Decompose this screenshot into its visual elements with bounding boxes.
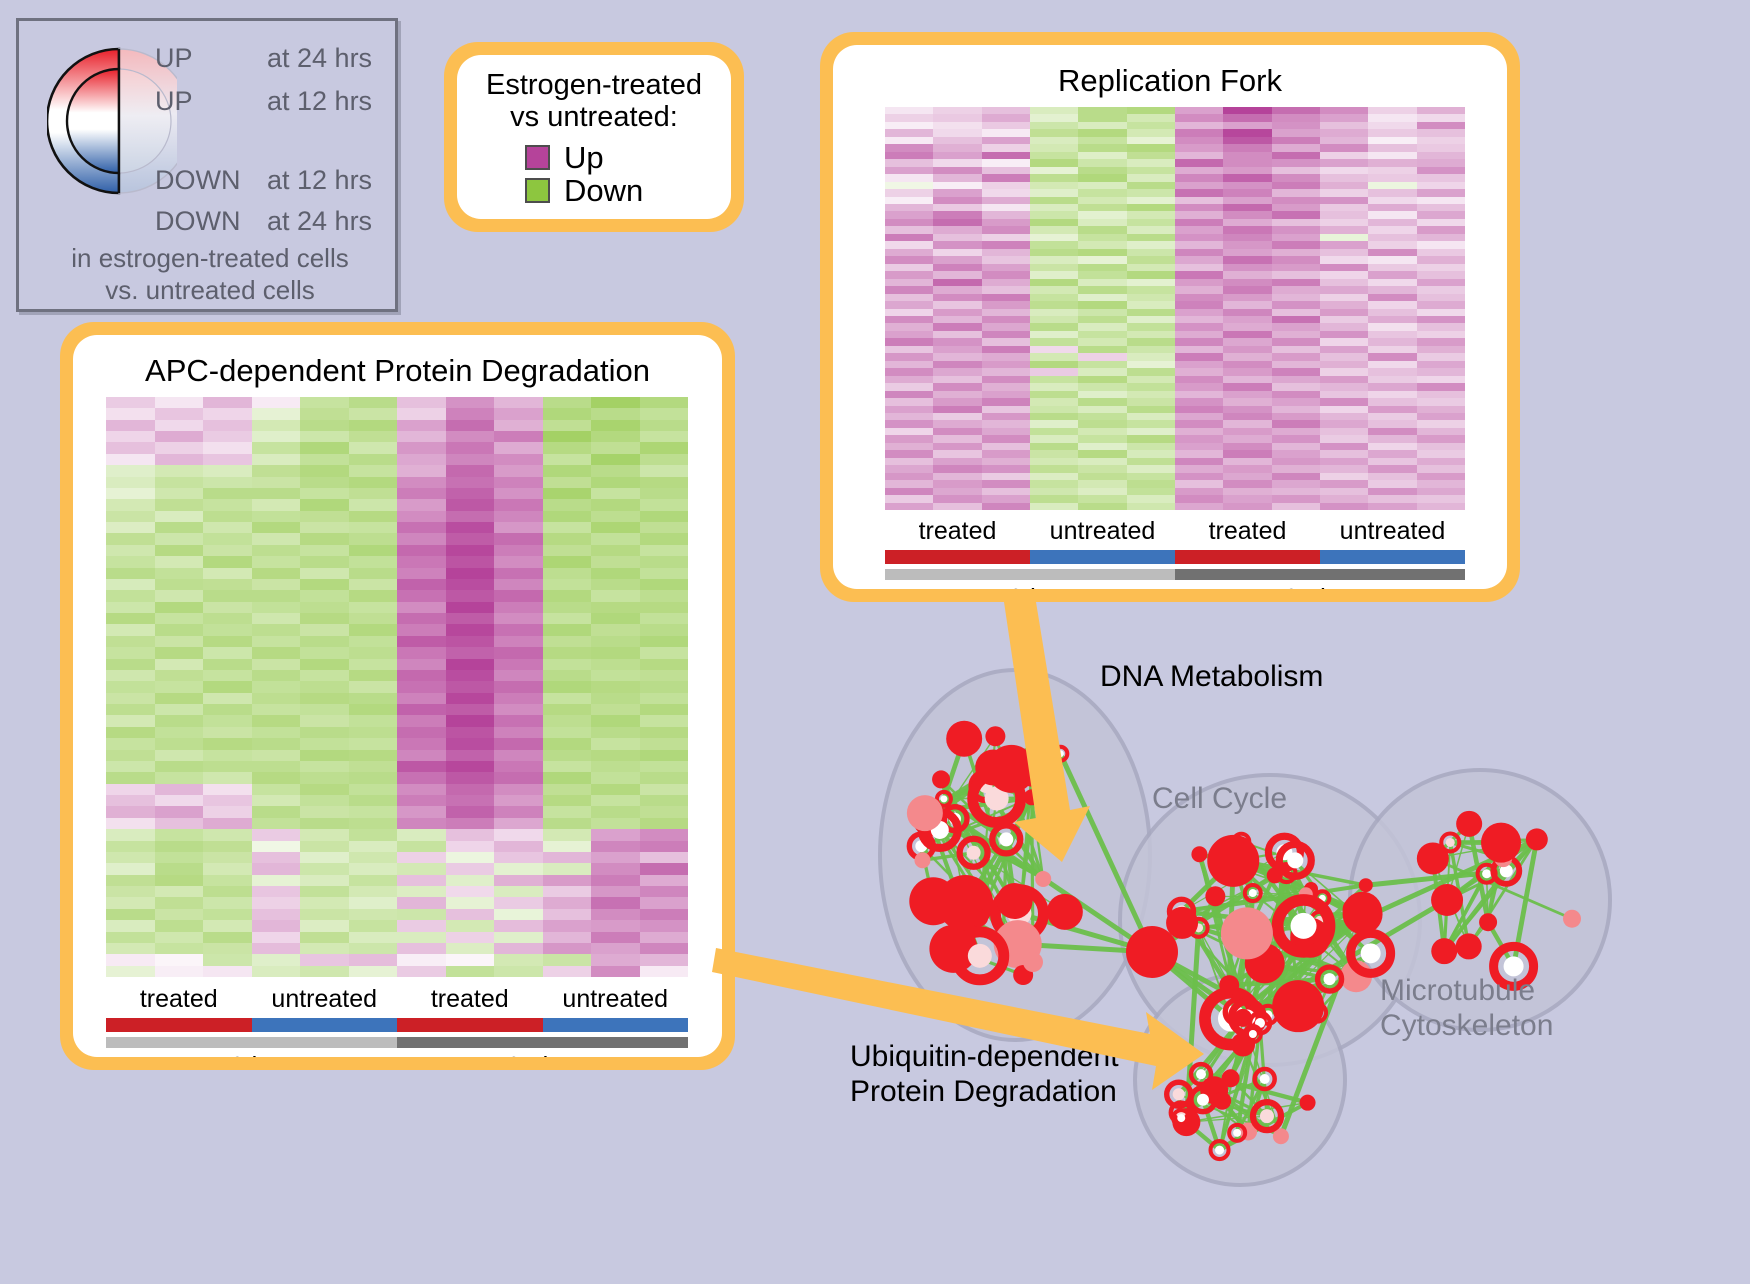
heatmap-cell	[982, 383, 1030, 390]
heatmap-cell	[1417, 234, 1465, 241]
heatmap-cell	[1127, 249, 1175, 256]
heatmap-cell	[349, 932, 398, 943]
cluster-label-microtubule-cytoskeleton: Microtubule Cytoskeleton	[1380, 974, 1553, 1043]
heatmap-cell	[1223, 249, 1271, 256]
heatmap-cell	[300, 784, 349, 795]
network-node	[1359, 878, 1373, 892]
heatmap-cell	[885, 107, 933, 114]
heatmap-cell	[1417, 174, 1465, 181]
heatmap-cell	[1417, 391, 1465, 398]
heatmap-cell	[397, 750, 446, 761]
heatmap-cell	[591, 761, 640, 772]
heatmap-cell	[1030, 211, 1078, 218]
heatmap-cell	[1223, 503, 1271, 510]
heatmap-cell	[106, 886, 155, 897]
heatmap-cell	[1320, 144, 1368, 151]
heatmap-cell	[543, 556, 592, 567]
heatmap-cell	[1030, 473, 1078, 480]
heatmap-cell	[300, 841, 349, 852]
heatmap-cell	[982, 279, 1030, 286]
heatmap-cell	[106, 818, 155, 829]
heatmap-cell	[252, 545, 301, 556]
network-node-core	[1215, 1146, 1224, 1155]
colorwheel-legend-box: UP at 24 hrs UP at 12 hrs DOWN at 12 hrs…	[16, 18, 398, 312]
heatmap-cell	[1272, 234, 1320, 241]
heatmap-cell	[885, 503, 933, 510]
heatmap-cell	[1223, 473, 1271, 480]
heatmap-cell	[885, 144, 933, 151]
heatmap-cell	[1175, 271, 1223, 278]
heatmap-cell	[106, 488, 155, 499]
heatmap-cell	[397, 806, 446, 817]
heatmap-cell	[1272, 473, 1320, 480]
heatmap-cell	[494, 522, 543, 533]
heatmap-cell	[203, 829, 252, 840]
heatmap-cell	[349, 590, 398, 601]
heatmap-cell	[1272, 211, 1320, 218]
heatmap-cell	[1127, 413, 1175, 420]
heatmap-cell	[494, 556, 543, 567]
condition-label-2: treated	[397, 985, 543, 1014]
heatmap-cell	[1127, 488, 1175, 495]
heatmap-cell	[982, 152, 1030, 159]
network-diagram: DNA Metabolism Cell Cycle Microtubule Cy…	[800, 600, 1750, 1279]
heatmap-cell	[1417, 204, 1465, 211]
heatmap-cell	[640, 841, 689, 852]
heatmap-cell	[982, 114, 1030, 121]
heatmap-cell	[1030, 503, 1078, 510]
heatmap-cell	[155, 875, 204, 886]
heatmap-cell	[446, 408, 495, 419]
heatmap-cell	[1175, 480, 1223, 487]
heatmap-cell	[1175, 413, 1223, 420]
heatmap-cell	[494, 841, 543, 852]
heatmap-cell	[106, 829, 155, 840]
heatmap-cell	[446, 613, 495, 624]
heatmap-cell	[1127, 420, 1175, 427]
heatmap-cell	[640, 499, 689, 510]
heatmap-cell	[1030, 361, 1078, 368]
heatmap-cell	[203, 659, 252, 670]
heatmap-cell	[982, 376, 1030, 383]
heatmap-cell	[1223, 241, 1271, 248]
heatmap-cell	[349, 897, 398, 908]
heatmap-cell	[155, 408, 204, 419]
heatmap-cell	[1223, 406, 1271, 413]
heatmap-cell	[252, 408, 301, 419]
heatmap-cell	[446, 738, 495, 749]
heatmap-cell	[1368, 458, 1416, 465]
heatmap-cell	[982, 167, 1030, 174]
heatmap-cell	[640, 829, 689, 840]
heatmap-cell	[591, 590, 640, 601]
heatmap-cell	[397, 499, 446, 510]
heatmap-cell	[982, 241, 1030, 248]
heatmap-cell	[543, 602, 592, 613]
heatmap-cell	[1272, 294, 1320, 301]
heatmap-cell	[1078, 159, 1126, 166]
heatmap-cell	[982, 428, 1030, 435]
heatmap-cell	[1223, 279, 1271, 286]
heatmap-cell	[640, 966, 689, 977]
heatmap-cell	[446, 477, 495, 488]
heatmap-cell	[1078, 144, 1126, 151]
heatmap-cell	[885, 129, 933, 136]
network-node-core	[1233, 1129, 1241, 1137]
heatmap-cell	[1272, 301, 1320, 308]
heatmap-cell	[1368, 413, 1416, 420]
heatmap-cell	[1417, 428, 1465, 435]
heatmap-cell	[885, 286, 933, 293]
heatmap-cell	[446, 431, 495, 442]
heatmap-cell	[349, 511, 398, 522]
heatmap-cell	[203, 522, 252, 533]
heatmap-cell	[933, 174, 981, 181]
heatmap-cell	[203, 909, 252, 920]
heatmap-cell	[885, 376, 933, 383]
heatmap-cell	[1272, 309, 1320, 316]
heatmap-cell	[1272, 137, 1320, 144]
heatmap-cell	[1127, 376, 1175, 383]
heatmap-cell	[1272, 331, 1320, 338]
heatmap-cell	[591, 920, 640, 931]
heatmap-cell	[591, 750, 640, 761]
heatmap-cell	[543, 488, 592, 499]
heatmap-cell	[300, 954, 349, 965]
heatmap-cell	[1223, 197, 1271, 204]
heatmap-cell	[1417, 294, 1465, 301]
network-node	[1481, 823, 1521, 863]
heatmap-cell	[982, 353, 1030, 360]
heatmap-cell	[640, 954, 689, 965]
heatmap-cell	[982, 122, 1030, 129]
heatmap-cell	[640, 624, 689, 635]
heatmap-cell	[1223, 137, 1271, 144]
heatmap-cell	[1030, 107, 1078, 114]
heatmap-cell	[155, 693, 204, 704]
heatmap-cell	[1078, 182, 1126, 189]
heatmap-cell	[543, 522, 592, 533]
heatmap-cell	[1223, 286, 1271, 293]
heatmap-cell	[1320, 413, 1368, 420]
heatmap-cell	[1368, 197, 1416, 204]
heatmap-cell	[252, 761, 301, 772]
heatmap-cell	[446, 670, 495, 681]
heatmap-cell	[933, 488, 981, 495]
network-node	[1207, 835, 1259, 887]
heatmap-cell	[1417, 137, 1465, 144]
heatmap-cell	[1272, 443, 1320, 450]
heatmap-cell	[1272, 182, 1320, 189]
heatmap-cell	[640, 932, 689, 943]
heatmap-cell	[1223, 361, 1271, 368]
heatmap-cell	[885, 137, 933, 144]
heatmap-cell	[1127, 114, 1175, 121]
heatmap-cell	[982, 338, 1030, 345]
heatmap-cell	[446, 488, 495, 499]
heatmap-cell	[640, 704, 689, 715]
heatmap-cell	[1223, 346, 1271, 353]
heatmap-cell	[397, 784, 446, 795]
heatmap-cell	[1078, 226, 1126, 233]
heatmap-cell	[494, 442, 543, 453]
heatmap-cell	[640, 647, 689, 658]
heatmap-cell	[1127, 450, 1175, 457]
heatmap-cell	[252, 488, 301, 499]
heatmap-cell	[446, 420, 495, 431]
heatmap-cell	[982, 129, 1030, 136]
heatmap-cell	[1030, 122, 1078, 129]
heatmap-cell	[933, 211, 981, 218]
heatmap-cell	[106, 397, 155, 408]
heatmap-cell	[543, 624, 592, 635]
heatmap-cell	[1320, 473, 1368, 480]
apc-time-bar	[106, 1037, 688, 1048]
heatmap-cell	[591, 886, 640, 897]
replication-fork-time-bar	[885, 569, 1465, 580]
heatmap-cell	[885, 294, 933, 301]
heatmap-cell	[1030, 346, 1078, 353]
heatmap-cell	[885, 338, 933, 345]
network-node-core	[1260, 1109, 1274, 1123]
heatmap-cell	[982, 398, 1030, 405]
heatmap-cell	[1175, 256, 1223, 263]
heatmap-cell	[1417, 406, 1465, 413]
heatmap-cell	[203, 670, 252, 681]
colorwheel-value-1: at 12 hrs	[267, 88, 372, 115]
heatmap-cell	[203, 897, 252, 908]
heatmap-cell	[106, 556, 155, 567]
heatmap-cell	[982, 226, 1030, 233]
heatmap-cell	[933, 107, 981, 114]
heatmap-cell	[1320, 316, 1368, 323]
heatmap-cell	[543, 954, 592, 965]
heatmap-cell	[1368, 503, 1416, 510]
heatmap-cell	[397, 761, 446, 772]
heatmap-cell	[300, 420, 349, 431]
heatmap-cell	[591, 499, 640, 510]
heatmap-cell	[1175, 294, 1223, 301]
heatmap-cell	[252, 841, 301, 852]
heatmap-cell	[349, 954, 398, 965]
heatmap-cell	[397, 602, 446, 613]
heatmap-cell	[349, 806, 398, 817]
heatmap-cell	[1127, 271, 1175, 278]
heatmap-cell	[591, 397, 640, 408]
up-label: Up	[564, 142, 604, 173]
heatmap-cell	[1272, 316, 1320, 323]
heatmap-cell	[933, 159, 981, 166]
heatmap-cell	[885, 465, 933, 472]
heatmap-cell	[1078, 465, 1126, 472]
heatmap-cell	[203, 442, 252, 453]
heatmap-cell	[446, 818, 495, 829]
heatmap-cell	[155, 704, 204, 715]
heatmap-cell	[640, 886, 689, 897]
heatmap-cell	[1127, 443, 1175, 450]
heatmap-cell	[543, 818, 592, 829]
heatmap-cell	[155, 420, 204, 431]
heatmap-cell	[933, 398, 981, 405]
heatmap-cell	[1320, 122, 1368, 129]
microtubule-line2: Cytoskeleton	[1380, 1009, 1553, 1044]
heatmap-cell	[397, 659, 446, 670]
heatmap-cell	[885, 435, 933, 442]
heatmap-cell	[1175, 241, 1223, 248]
heatmap-cell	[1368, 152, 1416, 159]
heatmap-cell	[982, 256, 1030, 263]
heatmap-cell	[300, 545, 349, 556]
heatmap-cell	[155, 431, 204, 442]
heatmap-cell	[543, 852, 592, 863]
heatmap-cell	[1078, 219, 1126, 226]
heatmap-cell	[1175, 219, 1223, 226]
heatmap-cell	[252, 920, 301, 931]
heatmap-cell	[933, 376, 981, 383]
heatmap-cell	[1417, 443, 1465, 450]
heatmap-cell	[300, 431, 349, 442]
heatmap-cell	[252, 772, 301, 783]
heatmap-cell	[1127, 323, 1175, 330]
heatmap-cell	[397, 511, 446, 522]
heatmap-cell	[300, 715, 349, 726]
heatmap-cell	[1417, 226, 1465, 233]
heatmap-cell	[494, 897, 543, 908]
heatmap-cell	[1368, 480, 1416, 487]
heatmap-cell	[1078, 256, 1126, 263]
heatmap-cell	[252, 897, 301, 908]
heatmap-cell	[300, 613, 349, 624]
heatmap-cell	[933, 309, 981, 316]
heatmap-cell	[982, 331, 1030, 338]
heatmap-cell	[640, 772, 689, 783]
heatmap-cell	[640, 590, 689, 601]
heatmap-cell	[1127, 346, 1175, 353]
heatmap-cell	[1272, 503, 1320, 510]
heatmap-cell	[1368, 189, 1416, 196]
heatmap-cell	[1127, 107, 1175, 114]
heatmap-cell	[1175, 346, 1223, 353]
heatmap-cell	[106, 852, 155, 863]
heatmap-cell	[252, 431, 301, 442]
heatmap-cell	[1320, 167, 1368, 174]
heatmap-cell	[252, 818, 301, 829]
heatmap-cell	[1320, 114, 1368, 121]
heatmap-cell	[203, 613, 252, 624]
heatmap-cell	[885, 197, 933, 204]
heatmap-cell	[640, 761, 689, 772]
heatmap-cell	[349, 795, 398, 806]
heatmap-cell	[1078, 264, 1126, 271]
heatmap-cell	[203, 795, 252, 806]
heatmap-cell	[1223, 107, 1271, 114]
heatmap-cell	[1223, 420, 1271, 427]
heatmap-cell	[885, 279, 933, 286]
heatmap-cell	[1368, 286, 1416, 293]
heatmap-cell	[1417, 107, 1465, 114]
heatmap-cell	[252, 602, 301, 613]
heatmap-cell	[397, 966, 446, 977]
heatmap-cell	[982, 435, 1030, 442]
heatmap-cell	[252, 852, 301, 863]
heatmap-cell	[1417, 480, 1465, 487]
heatmap-cell	[1127, 241, 1175, 248]
heatmap-cell	[1417, 241, 1465, 248]
heatmap-cell	[543, 545, 592, 556]
heatmap-cell	[1417, 435, 1465, 442]
replication-fork-condition-bar	[885, 550, 1465, 564]
heatmap-cell	[1272, 256, 1320, 263]
heatmap-cell	[982, 264, 1030, 271]
heatmap-cell	[1417, 182, 1465, 189]
heatmap-cell	[397, 852, 446, 863]
heatmap-cell	[1030, 383, 1078, 390]
heatmap-cell	[1175, 174, 1223, 181]
heatmap-cell	[1175, 495, 1223, 502]
network-node-core	[1173, 1088, 1185, 1100]
heatmap-cell	[1030, 480, 1078, 487]
heatmap-cell	[494, 659, 543, 670]
heatmap-cell	[1078, 241, 1126, 248]
heatmap-cell	[1320, 174, 1368, 181]
network-node	[1563, 910, 1581, 928]
heatmap-cell	[203, 841, 252, 852]
time-bar-segment	[885, 569, 1175, 580]
heatmap-cell	[640, 522, 689, 533]
heatmap-cell	[155, 829, 204, 840]
heatmap-cell	[300, 875, 349, 886]
heatmap-cell	[397, 613, 446, 624]
cluster-label-ubiquitin-degradation: Ubiquitin-dependent Protein Degradation	[850, 1040, 1119, 1109]
heatmap-cell	[106, 897, 155, 908]
heatmap-cell	[1320, 159, 1368, 166]
heatmap-cell	[1030, 398, 1078, 405]
heatmap-cell	[1030, 465, 1078, 472]
heatmap-cell	[543, 590, 592, 601]
heatmap-cell	[203, 932, 252, 943]
heatmap-cell	[349, 841, 398, 852]
heatmap-cell	[1320, 458, 1368, 465]
heatmap-cell	[446, 966, 495, 977]
heatmap-cell	[203, 636, 252, 647]
heatmap-cell	[349, 568, 398, 579]
heatmap-cell	[1320, 234, 1368, 241]
heatmap-cell	[1030, 152, 1078, 159]
updown-legend-title-line1: Estrogen-treated	[467, 69, 721, 101]
heatmap-cell	[1175, 465, 1223, 472]
heatmap-cell	[640, 613, 689, 624]
heatmap-cell	[543, 727, 592, 738]
heatmap-cell	[1272, 144, 1320, 151]
heatmap-cell	[1320, 376, 1368, 383]
heatmap-cell	[1175, 376, 1223, 383]
heatmap-cell	[446, 761, 495, 772]
heatmap-cell	[494, 932, 543, 943]
heatmap-cell	[155, 966, 204, 977]
heatmap-cell	[252, 750, 301, 761]
heatmap-cell	[252, 738, 301, 749]
heatmap-cell	[982, 495, 1030, 502]
heatmap-cell	[106, 636, 155, 647]
replication-fork-title: Replication Fork	[833, 63, 1507, 99]
heatmap-cell	[1078, 428, 1126, 435]
heatmap-cell	[155, 511, 204, 522]
heatmap-cell	[300, 590, 349, 601]
heatmap-cell	[1368, 219, 1416, 226]
heatmap-cell	[155, 886, 204, 897]
heatmap-cell	[155, 624, 204, 635]
heatmap-cell	[933, 346, 981, 353]
